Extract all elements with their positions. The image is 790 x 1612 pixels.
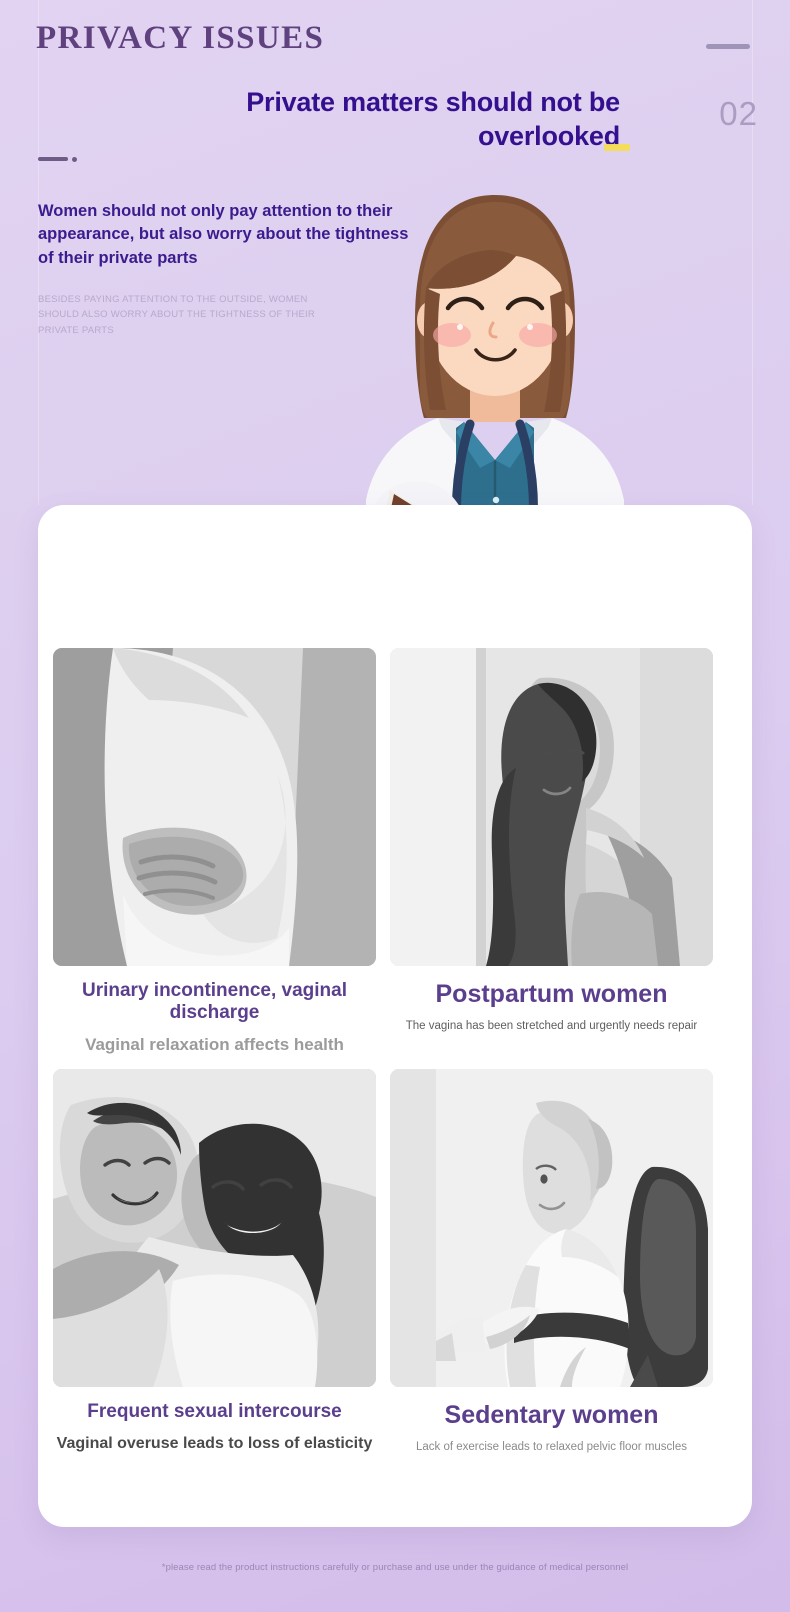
decorative-seam-right [752,0,753,505]
top-dash-decoration [706,44,750,49]
card-row-top: Urinary incontinence, vaginal discharge … [53,648,713,1055]
page-headline: Private matters should not be overlooked [130,86,620,154]
poster-root: PRIVACY ISSUES 02 Private matters should… [0,0,790,1612]
card-title: Frequent sexual intercourse [53,1401,376,1423]
card-row-bottom: Frequent sexual intercourse Vaginal over… [53,1069,713,1454]
kicker-title: PRIVACY ISSUES [36,20,324,57]
card-thumbnail [53,648,376,966]
issue-card[interactable]: Postpartum women The vagina has been str… [390,648,713,1055]
card-thumbnail [53,1069,376,1387]
issue-card[interactable]: Sedentary women Lack of exercise leads t… [390,1069,713,1454]
subheadline-caps: BESIDES PAYING ATTENTION TO THE OUTSIDE,… [38,292,338,338]
left-dash-decoration [38,157,68,161]
headline-highlight-underline [604,144,630,151]
card-subtitle: Lack of exercise leads to relaxed pelvic… [390,1441,713,1455]
card-subtitle: The vagina has been stretched and urgent… [390,1020,713,1034]
footnote-disclaimer: *please read the product instructions ca… [0,1562,790,1573]
issue-card-grid: Urinary incontinence, vaginal discharge … [53,648,713,1455]
page-number: 02 [719,95,758,133]
issue-card[interactable]: Urinary incontinence, vaginal discharge … [53,648,376,1055]
card-thumbnail [390,1069,713,1387]
card-title: Sedentary women [390,1401,713,1431]
card-title: Urinary incontinence, vaginal discharge [53,980,376,1025]
card-title: Postpartum women [390,980,713,1010]
card-thumbnail [390,648,713,966]
card-subtitle: Vaginal overuse leads to loss of elastic… [53,1434,376,1453]
issue-card[interactable]: Frequent sexual intercourse Vaginal over… [53,1069,376,1454]
left-dot-decoration [72,157,77,162]
card-subtitle: Vaginal relaxation affects health [53,1035,376,1055]
